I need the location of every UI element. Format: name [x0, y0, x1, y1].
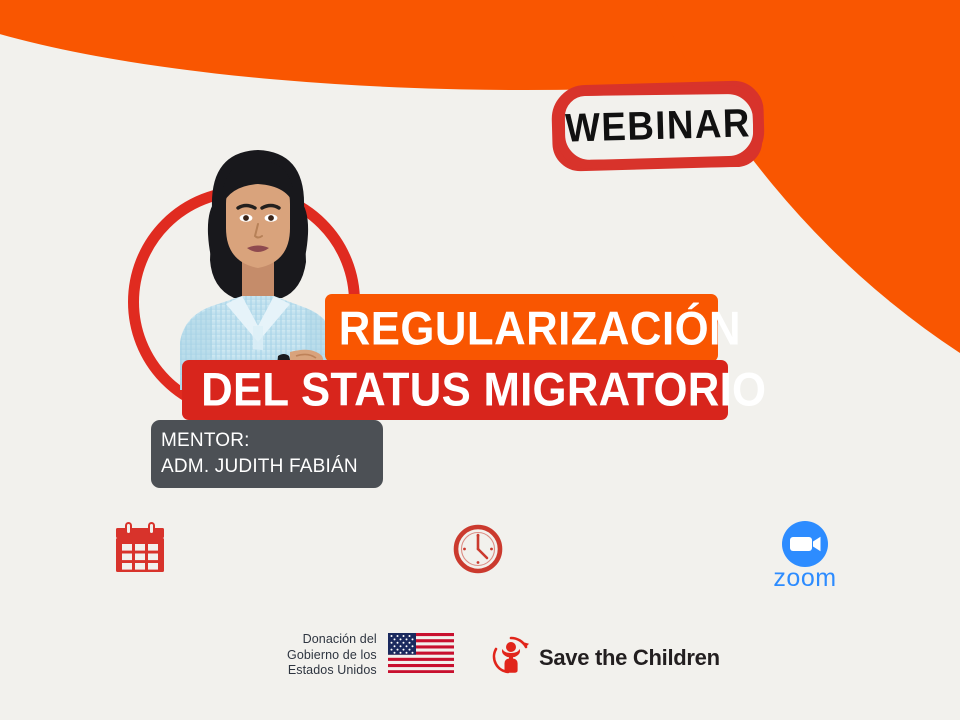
mentor-name: ADM. JUDITH FABIÁN — [161, 454, 383, 480]
mentor-box: MENTOR: ADM. JUDITH FABIÁN — [151, 420, 383, 488]
title-line1-text: REGULARIZACIÓN — [339, 305, 704, 352]
title-band-line2: DEL STATUS MIGRATORIO — [182, 360, 728, 420]
donor-text: Donación del Gobierno de los Estados Uni… — [287, 632, 377, 679]
calendar-icon — [112, 520, 168, 583]
save-the-children-name: Save the Children — [539, 645, 720, 671]
us-flag-icon — [388, 633, 454, 678]
donor-line-1: Donación del — [287, 632, 377, 648]
mentor-label: MENTOR: — [161, 428, 383, 454]
donor-line-3: Estados Unidos — [287, 663, 377, 679]
title-band-line1: REGULARIZACIÓN — [325, 294, 718, 362]
zoom-wordmark: zoom — [773, 564, 836, 592]
donor-credit: Donación del Gobierno de los Estados Uni… — [287, 632, 454, 679]
donor-line-2: Gobierno de los — [287, 648, 377, 664]
webinar-poster: WEBINAR — [0, 0, 960, 720]
icon-row: zoom — [0, 520, 960, 610]
title-line2-text: DEL STATUS MIGRATORIO — [201, 366, 709, 413]
save-the-children-credit: Save the Children — [492, 636, 720, 679]
webinar-badge: WEBINAR — [551, 80, 765, 172]
webinar-badge-label: WEBINAR — [559, 80, 756, 171]
zoom-logo: zoom — [772, 520, 838, 597]
save-the-children-logo — [492, 636, 530, 679]
footer: Donación del Gobierno de los Estados Uni… — [0, 628, 960, 694]
clock-icon — [452, 520, 504, 581]
